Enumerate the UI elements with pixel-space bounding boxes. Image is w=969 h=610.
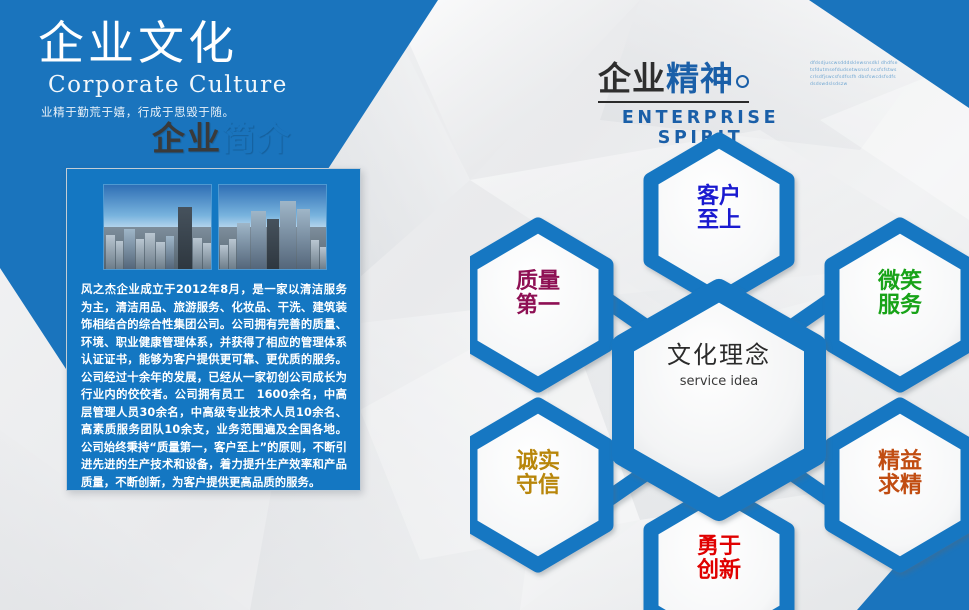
photo-strip (103, 184, 327, 270)
center-label-en: service idea (634, 374, 804, 389)
spirit-decoration-text: dfdsdjuscwsdddsklewsnsdkl dhdfsetsfdutms… (810, 60, 898, 88)
hexagon-quality-first[interactable] (470, 225, 606, 385)
hexagon-smile-service[interactable] (832, 225, 968, 385)
city-skyline-photo-1 (103, 184, 212, 270)
spirit-title-dark: 企业 (598, 59, 666, 98)
culture-hexagon-diagram: 客户 至上 质量 第一 微笑 服务 诚实 守信 精益 求精 勇于 创新 文化理念… (470, 120, 969, 610)
slide-canvas: 企业文化 Corporate Culture 业精于勤荒于嬉，行成于思毁于随。 … (0, 0, 969, 610)
intro-title-dark: 企业 (152, 119, 222, 158)
spirit-dot-icon (736, 75, 749, 88)
city-skyline-photo-2 (218, 184, 327, 270)
hexagon-excellence[interactable] (832, 405, 968, 565)
company-intro-title: 企业简介 (152, 112, 292, 160)
intro-title-blue: 简介 (222, 119, 292, 158)
banner-text-block: 企业文化 Corporate Culture 业精于勤荒于嬉，行成于思毁于随。 (38, 18, 368, 120)
hexagon-center-culture-idea[interactable] (623, 290, 815, 510)
company-intro-card: 风之杰企业成立于2012年8月，是一家以清洁服务为主，清洁用品、旅游服务、化妆品… (66, 168, 361, 491)
center-label-cn: 文化理念 (634, 335, 804, 370)
banner-title-cn: 企业文化 (38, 18, 368, 70)
spirit-title-blue: 精神 (666, 59, 734, 98)
spirit-title: 企业精神 (598, 52, 749, 103)
hexagon-integrity[interactable] (470, 405, 606, 565)
company-intro-body: 风之杰企业成立于2012年8月，是一家以清洁服务为主，清洁用品、旅游服务、化妆品… (81, 281, 347, 491)
banner-title-en: Corporate Culture (48, 72, 368, 98)
hexagon-customer-first[interactable] (651, 140, 787, 300)
